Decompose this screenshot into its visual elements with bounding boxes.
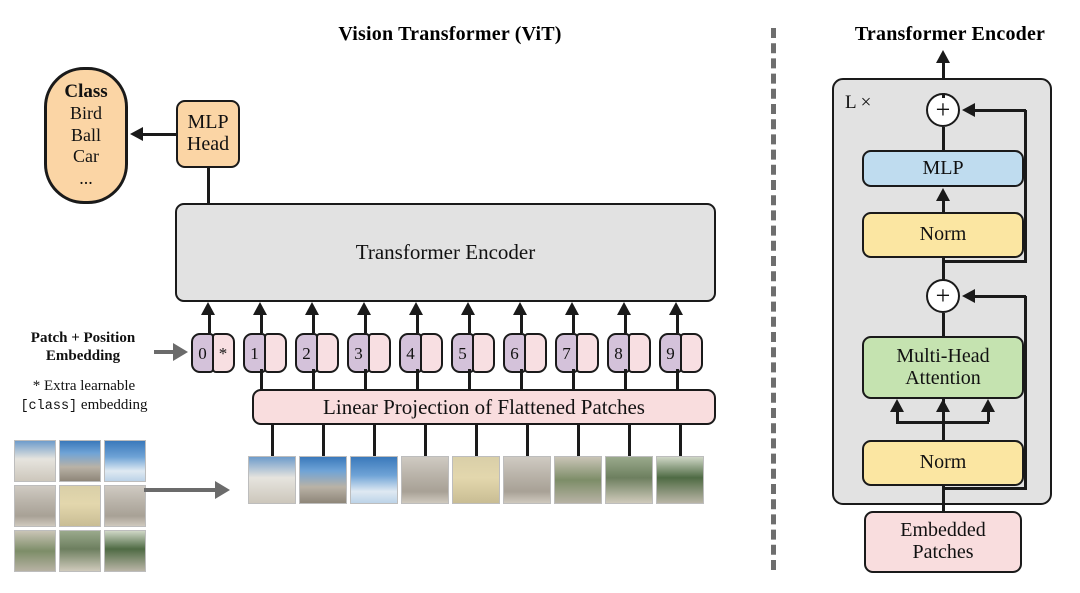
token-to-projection-line: [676, 369, 679, 390]
token-7: 7: [555, 333, 599, 373]
patchify-arrow-shaft: [144, 488, 216, 492]
token-to-projection-line: [364, 369, 367, 390]
encoder-input-line: [260, 315, 263, 333]
mlp-box: MLP: [862, 150, 1024, 187]
skip-bottom-vertical: [1024, 296, 1027, 489]
skip-top-vertical: [1024, 110, 1027, 262]
plus-symbol: +: [936, 97, 951, 123]
mlp-head-box: MLP Head: [176, 100, 240, 168]
position-embedding-8: 8: [607, 333, 630, 373]
attention-line1: Multi-Head: [896, 346, 989, 368]
patch-embedding-1: [264, 333, 287, 373]
embedding-pointer-shaft: [154, 350, 174, 354]
position-embedding-0: 0: [191, 333, 214, 373]
mlp-label: MLP: [922, 158, 963, 180]
token-to-projection-line: [416, 369, 419, 390]
source-image-patch-grid: [14, 440, 146, 572]
encoder-input-line: [208, 315, 211, 333]
skip-top-horizontal-bottom: [942, 260, 1027, 263]
position-embedding-2: 2: [295, 333, 318, 373]
source-patch-tile: [104, 530, 146, 572]
sequence-patch-tile: [452, 456, 500, 504]
source-patch-tile: [14, 530, 56, 572]
position-embedding-1: 1: [243, 333, 266, 373]
token-to-projection-line: [572, 369, 575, 390]
token-4: 4: [399, 333, 443, 373]
sequence-patch-tile: [503, 456, 551, 504]
embedding-pointer-head: [173, 343, 188, 361]
patch-embedding-3: [368, 333, 391, 373]
token-9: 9: [659, 333, 703, 373]
encoder-to-mlp-line: [207, 168, 210, 204]
embedding-word: embedding: [77, 397, 147, 413]
transformer-encoder-box: Transformer Encoder: [175, 203, 716, 302]
token-3: 3: [347, 333, 391, 373]
class-token-mono: [class]: [20, 399, 77, 414]
mlp-head-line1: MLP: [187, 112, 228, 134]
token-to-projection-line: [260, 369, 263, 390]
encoder-input-arrowhead: [513, 302, 527, 315]
sequence-patch-tile: [248, 456, 296, 504]
sequence-patch-tile: [401, 456, 449, 504]
encoder-input-line: [468, 315, 471, 333]
extra-learnable-line2: [class] embedding: [8, 396, 160, 416]
residual-add-top: +: [926, 93, 960, 127]
projection-to-patch-line: [271, 424, 274, 457]
patchify-arrow-head: [215, 481, 230, 499]
token-6: 6: [503, 333, 547, 373]
projection-to-patch-line: [424, 424, 427, 457]
skip-bottom-arrowhead: [962, 289, 975, 303]
encoder-input-arrowhead: [305, 302, 319, 315]
position-embedding-7: 7: [555, 333, 578, 373]
encoder-input-arrowhead: [357, 302, 371, 315]
normtop-to-mlp-arrowhead: [936, 188, 950, 201]
repeat-count-label: L ×: [845, 92, 871, 114]
token-5: 5: [451, 333, 495, 373]
patch-embedding-8: [628, 333, 651, 373]
class-title: Class: [64, 81, 107, 103]
extra-learnable-note: * Extra learnable [class] embedding: [8, 377, 160, 416]
patch-embedding-6: [524, 333, 547, 373]
residual-add-bottom: +: [926, 279, 960, 313]
encoder-input-line: [416, 315, 419, 333]
position-embedding-3: 3: [347, 333, 370, 373]
source-patch-tile: [59, 530, 101, 572]
patch-embedding-7: [576, 333, 599, 373]
embedded-to-norm-line: [942, 486, 945, 512]
token-1: 1: [243, 333, 287, 373]
norm-top-box: Norm: [862, 212, 1024, 258]
source-patch-tile: [59, 440, 101, 482]
norm-top-label: Norm: [920, 224, 967, 246]
skip-bottom-horizontal-bottom: [942, 487, 1027, 490]
qkv-left-arrowhead: [890, 399, 904, 412]
embedded-line1: Embedded: [900, 520, 986, 542]
token-2: 2: [295, 333, 339, 373]
encoder-input-arrowhead: [565, 302, 579, 315]
class-item: Bird: [70, 103, 102, 125]
source-patch-tile: [104, 485, 146, 527]
position-embedding-6: 6: [503, 333, 526, 373]
patch-embedding-5: [472, 333, 495, 373]
projection-to-patch-line: [373, 424, 376, 457]
encoder-input-arrowhead: [409, 302, 423, 315]
encoder-input-line: [364, 315, 367, 333]
linear-projection-label: Linear Projection of Flattened Patches: [323, 396, 645, 419]
transformer-encoder-label: Transformer Encoder: [356, 241, 535, 264]
patch-embedding-0: *: [212, 333, 235, 373]
sequence-patch-tile: [299, 456, 347, 504]
token-to-projection-line: [624, 369, 627, 390]
projection-to-patch-line: [577, 424, 580, 457]
sequence-patch-tile: [554, 456, 602, 504]
sequence-patch-tile: [656, 456, 704, 504]
encoder-output-arrowhead: [936, 50, 950, 63]
left-panel-title: Vision Transformer (ViT): [170, 23, 730, 46]
source-patch-tile: [59, 485, 101, 527]
norm-bottom-label: Norm: [920, 452, 967, 474]
source-patch-tile: [14, 440, 56, 482]
sequence-patch-tile: [605, 456, 653, 504]
skip-bottom-horizontal-top: [975, 295, 1026, 298]
patch-embedding-9: [680, 333, 703, 373]
embedded-line2: Patches: [912, 542, 973, 564]
attention-to-add-line: [942, 313, 945, 337]
encoder-input-line: [572, 315, 575, 333]
position-embedding-9: 9: [659, 333, 682, 373]
extra-learnable-line1: * Extra learnable: [8, 377, 160, 396]
embedding-label-line1: Patch + Position: [8, 330, 158, 348]
norm-bottom-box: Norm: [862, 440, 1024, 486]
class-output-box: Class Bird Ball Car ...: [44, 67, 128, 204]
source-patch-tile: [104, 440, 146, 482]
embedded-patches-box: Embedded Patches: [864, 511, 1022, 573]
attention-line2: Attention: [905, 368, 981, 390]
qkv-right-arrowhead: [981, 399, 995, 412]
patch-embedding-2: [316, 333, 339, 373]
projection-to-patch-line: [322, 424, 325, 457]
encoder-input-line: [624, 315, 627, 333]
encoder-input-line: [676, 315, 679, 333]
token-to-projection-line: [312, 369, 315, 390]
embedding-label-line2: Embedding: [8, 348, 158, 366]
projection-to-patch-line: [475, 424, 478, 457]
encoder-input-arrowhead: [201, 302, 215, 315]
projection-to-patch-line: [679, 424, 682, 457]
linear-projection-box: Linear Projection of Flattened Patches: [252, 389, 716, 425]
multi-head-attention-box: Multi-Head Attention: [862, 336, 1024, 399]
qkv-mid-arrowhead: [936, 399, 950, 412]
token-to-projection-line: [520, 369, 523, 390]
encoder-input-line: [520, 315, 523, 333]
encoder-input-line: [312, 315, 315, 333]
class-item: Car: [73, 146, 99, 168]
mlp-to-class-line: [143, 133, 176, 136]
class-item: Ball: [71, 125, 101, 147]
source-patch-tile: [14, 485, 56, 527]
projection-to-patch-line: [526, 424, 529, 457]
mlp-head-line2: Head: [187, 134, 229, 156]
projection-to-patch-line: [628, 424, 631, 457]
position-embedding-5: 5: [451, 333, 474, 373]
panel-divider: [771, 28, 776, 570]
add-top-to-encoder-out: [942, 93, 945, 98]
position-embedding-4: 4: [399, 333, 422, 373]
class-item: ...: [79, 168, 93, 190]
mlp-to-class-arrowhead: [130, 127, 143, 141]
token-8: 8: [607, 333, 651, 373]
skip-top-arrowhead: [962, 103, 975, 117]
vit-architecture-figure: Vision Transformer (ViT) Class Bird Ball…: [0, 0, 1080, 593]
right-panel-title: Transformer Encoder: [820, 23, 1080, 46]
encoder-input-arrowhead: [617, 302, 631, 315]
encoder-input-arrowhead: [253, 302, 267, 315]
sequence-patch-tile: [350, 456, 398, 504]
encoder-input-arrowhead: [669, 302, 683, 315]
token-0: 0*: [191, 333, 235, 373]
patch-embedding-4: [420, 333, 443, 373]
mlp-to-add-line: [942, 127, 945, 151]
patch-position-embedding-label: Patch + Position Embedding: [8, 330, 158, 365]
plus-symbol: +: [936, 283, 951, 309]
skip-top-horizontal-top: [975, 109, 1026, 112]
encoder-input-arrowhead: [461, 302, 475, 315]
token-to-projection-line: [468, 369, 471, 390]
